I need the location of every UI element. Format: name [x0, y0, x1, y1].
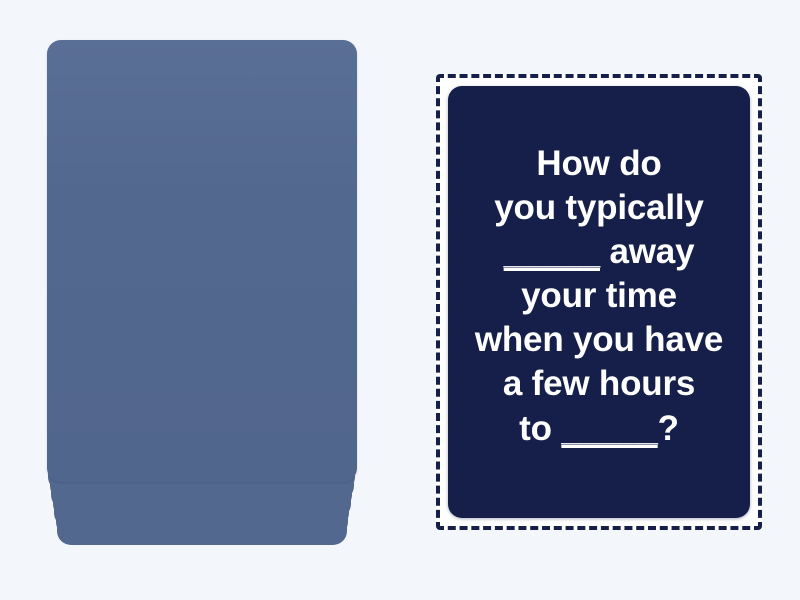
card-question-text: How do you typically _____ away your tim…	[448, 86, 750, 451]
deck-top-card[interactable]	[47, 40, 357, 482]
flashcard-stage: How do you typically _____ away your tim…	[0, 0, 800, 600]
question-line-7-suffix: ?	[658, 409, 679, 448]
question-line-3: away	[600, 232, 694, 271]
question-line-6: a few hours	[503, 364, 695, 403]
card-deck-stack[interactable]	[47, 40, 357, 545]
question-blank-2: _____	[561, 409, 657, 448]
question-card[interactable]: How do you typically _____ away your tim…	[448, 86, 750, 518]
question-line-5: when you have	[475, 320, 723, 359]
question-blank-1: _____	[504, 232, 600, 271]
question-line-7-prefix: to	[519, 409, 561, 448]
question-line-2: you typically	[494, 188, 703, 227]
question-line-4: your time	[521, 276, 677, 315]
question-line-1: How do	[536, 144, 661, 183]
active-card-outline[interactable]: How do you typically _____ away your tim…	[436, 74, 762, 530]
